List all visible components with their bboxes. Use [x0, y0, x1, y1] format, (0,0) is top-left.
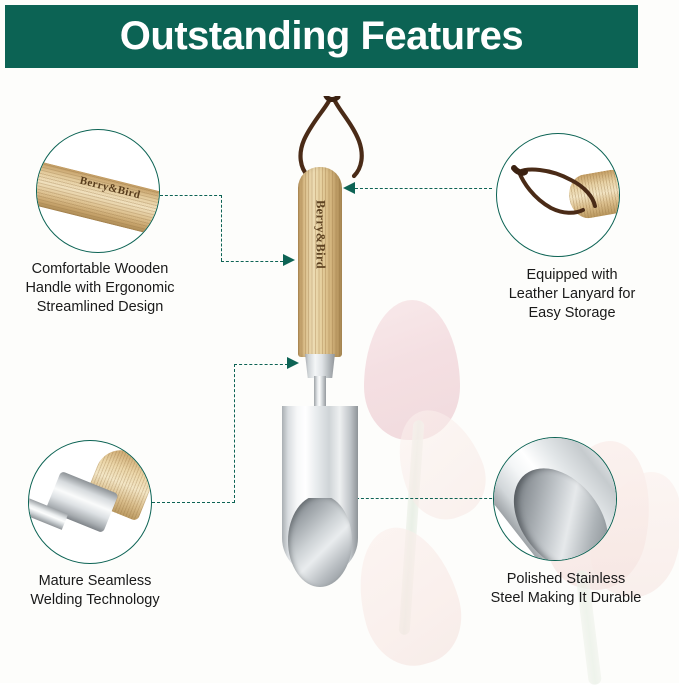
infographic-canvas: Outstanding Features Berry&Bird — [0, 0, 679, 683]
tube-scoop-mouth — [288, 495, 352, 587]
steel-shaft — [314, 376, 326, 410]
feature-circle-wooden-handle: Berry&Bird — [36, 129, 160, 253]
feature-comfortable-wooden-handle: Berry&Bird Comfortable Wooden Handle wit… — [0, 125, 210, 320]
lanyard-closeup — [497, 134, 620, 257]
feature-caption-polished-steel: Polished Stainless Steel Making It Durab… — [466, 570, 666, 608]
feature-seamless-welding: Mature Seamless Welding Technology — [0, 432, 210, 622]
feature-caption-leather-lanyard: Equipped with Leather Lanyard for Easy S… — [482, 266, 662, 323]
feature-caption-wooden-handle: Comfortable Wooden Handle with Ergonomic… — [0, 260, 200, 317]
feature-circle-seamless-welding — [28, 440, 152, 564]
handle-barrel-closeup — [36, 159, 160, 238]
wooden-handle: Berry&Bird — [298, 167, 342, 357]
feature-polished-stainless-steel: Polished Stainless Steel Making It Durab… — [466, 437, 679, 627]
feature-circle-polished-steel — [493, 437, 617, 561]
feature-circle-leather-lanyard — [496, 133, 620, 257]
feature-caption-seamless-welding: Mature Seamless Welding Technology — [0, 572, 190, 610]
handle-brand-text: Berry&Bird — [313, 200, 328, 269]
tube-upper-body — [282, 406, 358, 498]
steel-ferrule — [303, 354, 337, 378]
feature-leather-lanyard: Equipped with Leather Lanyard for Easy S… — [472, 133, 679, 328]
